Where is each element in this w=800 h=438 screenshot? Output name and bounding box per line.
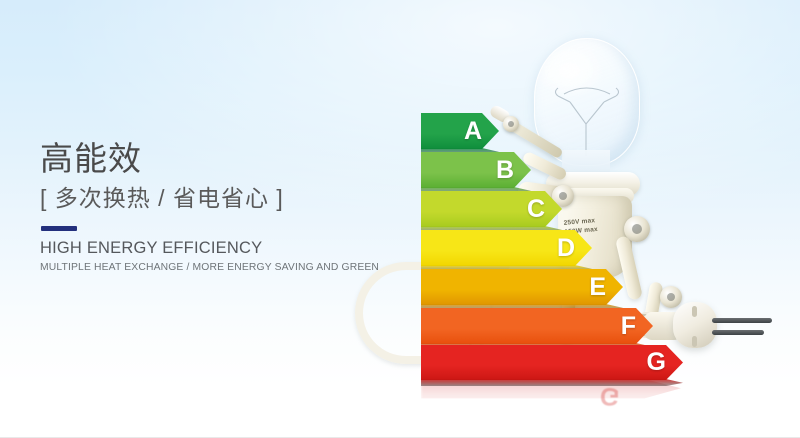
energy-bar-b: B <box>421 152 531 188</box>
energy-bar-label: G <box>647 350 683 375</box>
energy-bar-c: C <box>421 191 562 227</box>
energy-bar-a: A <box>421 113 499 149</box>
energy-bar-label: D <box>557 236 592 261</box>
energy-bar-label: B <box>496 158 531 183</box>
plug-prong-bottom <box>712 330 764 335</box>
energy-bar-label: A <box>464 119 499 144</box>
energy-bar-face <box>421 308 653 344</box>
robot-foot-joint <box>660 286 682 308</box>
robot-hand-joint <box>503 116 519 132</box>
energy-bar-face <box>421 345 683 380</box>
energy-bar-label: E <box>589 275 623 300</box>
rating-label-line1: 250V max <box>563 217 595 227</box>
energy-bar-e: E <box>421 269 623 305</box>
energy-bar-label: C <box>527 197 562 222</box>
energy-bar-f: F <box>421 308 653 344</box>
energy-bar-d: D <box>421 230 592 266</box>
energy-bar-label: F <box>621 314 653 339</box>
energy-bar-edge <box>421 379 683 386</box>
energy-bar-g: G <box>421 345 683 380</box>
energy-efficiency-banner: 高能效 [ 多次换热 / 省电省心 ] HIGH ENERGY EFFICIEN… <box>0 0 800 438</box>
plug-prong-top <box>712 318 772 323</box>
plug-slot-top <box>692 306 697 317</box>
plug-slot-bottom <box>692 336 697 347</box>
